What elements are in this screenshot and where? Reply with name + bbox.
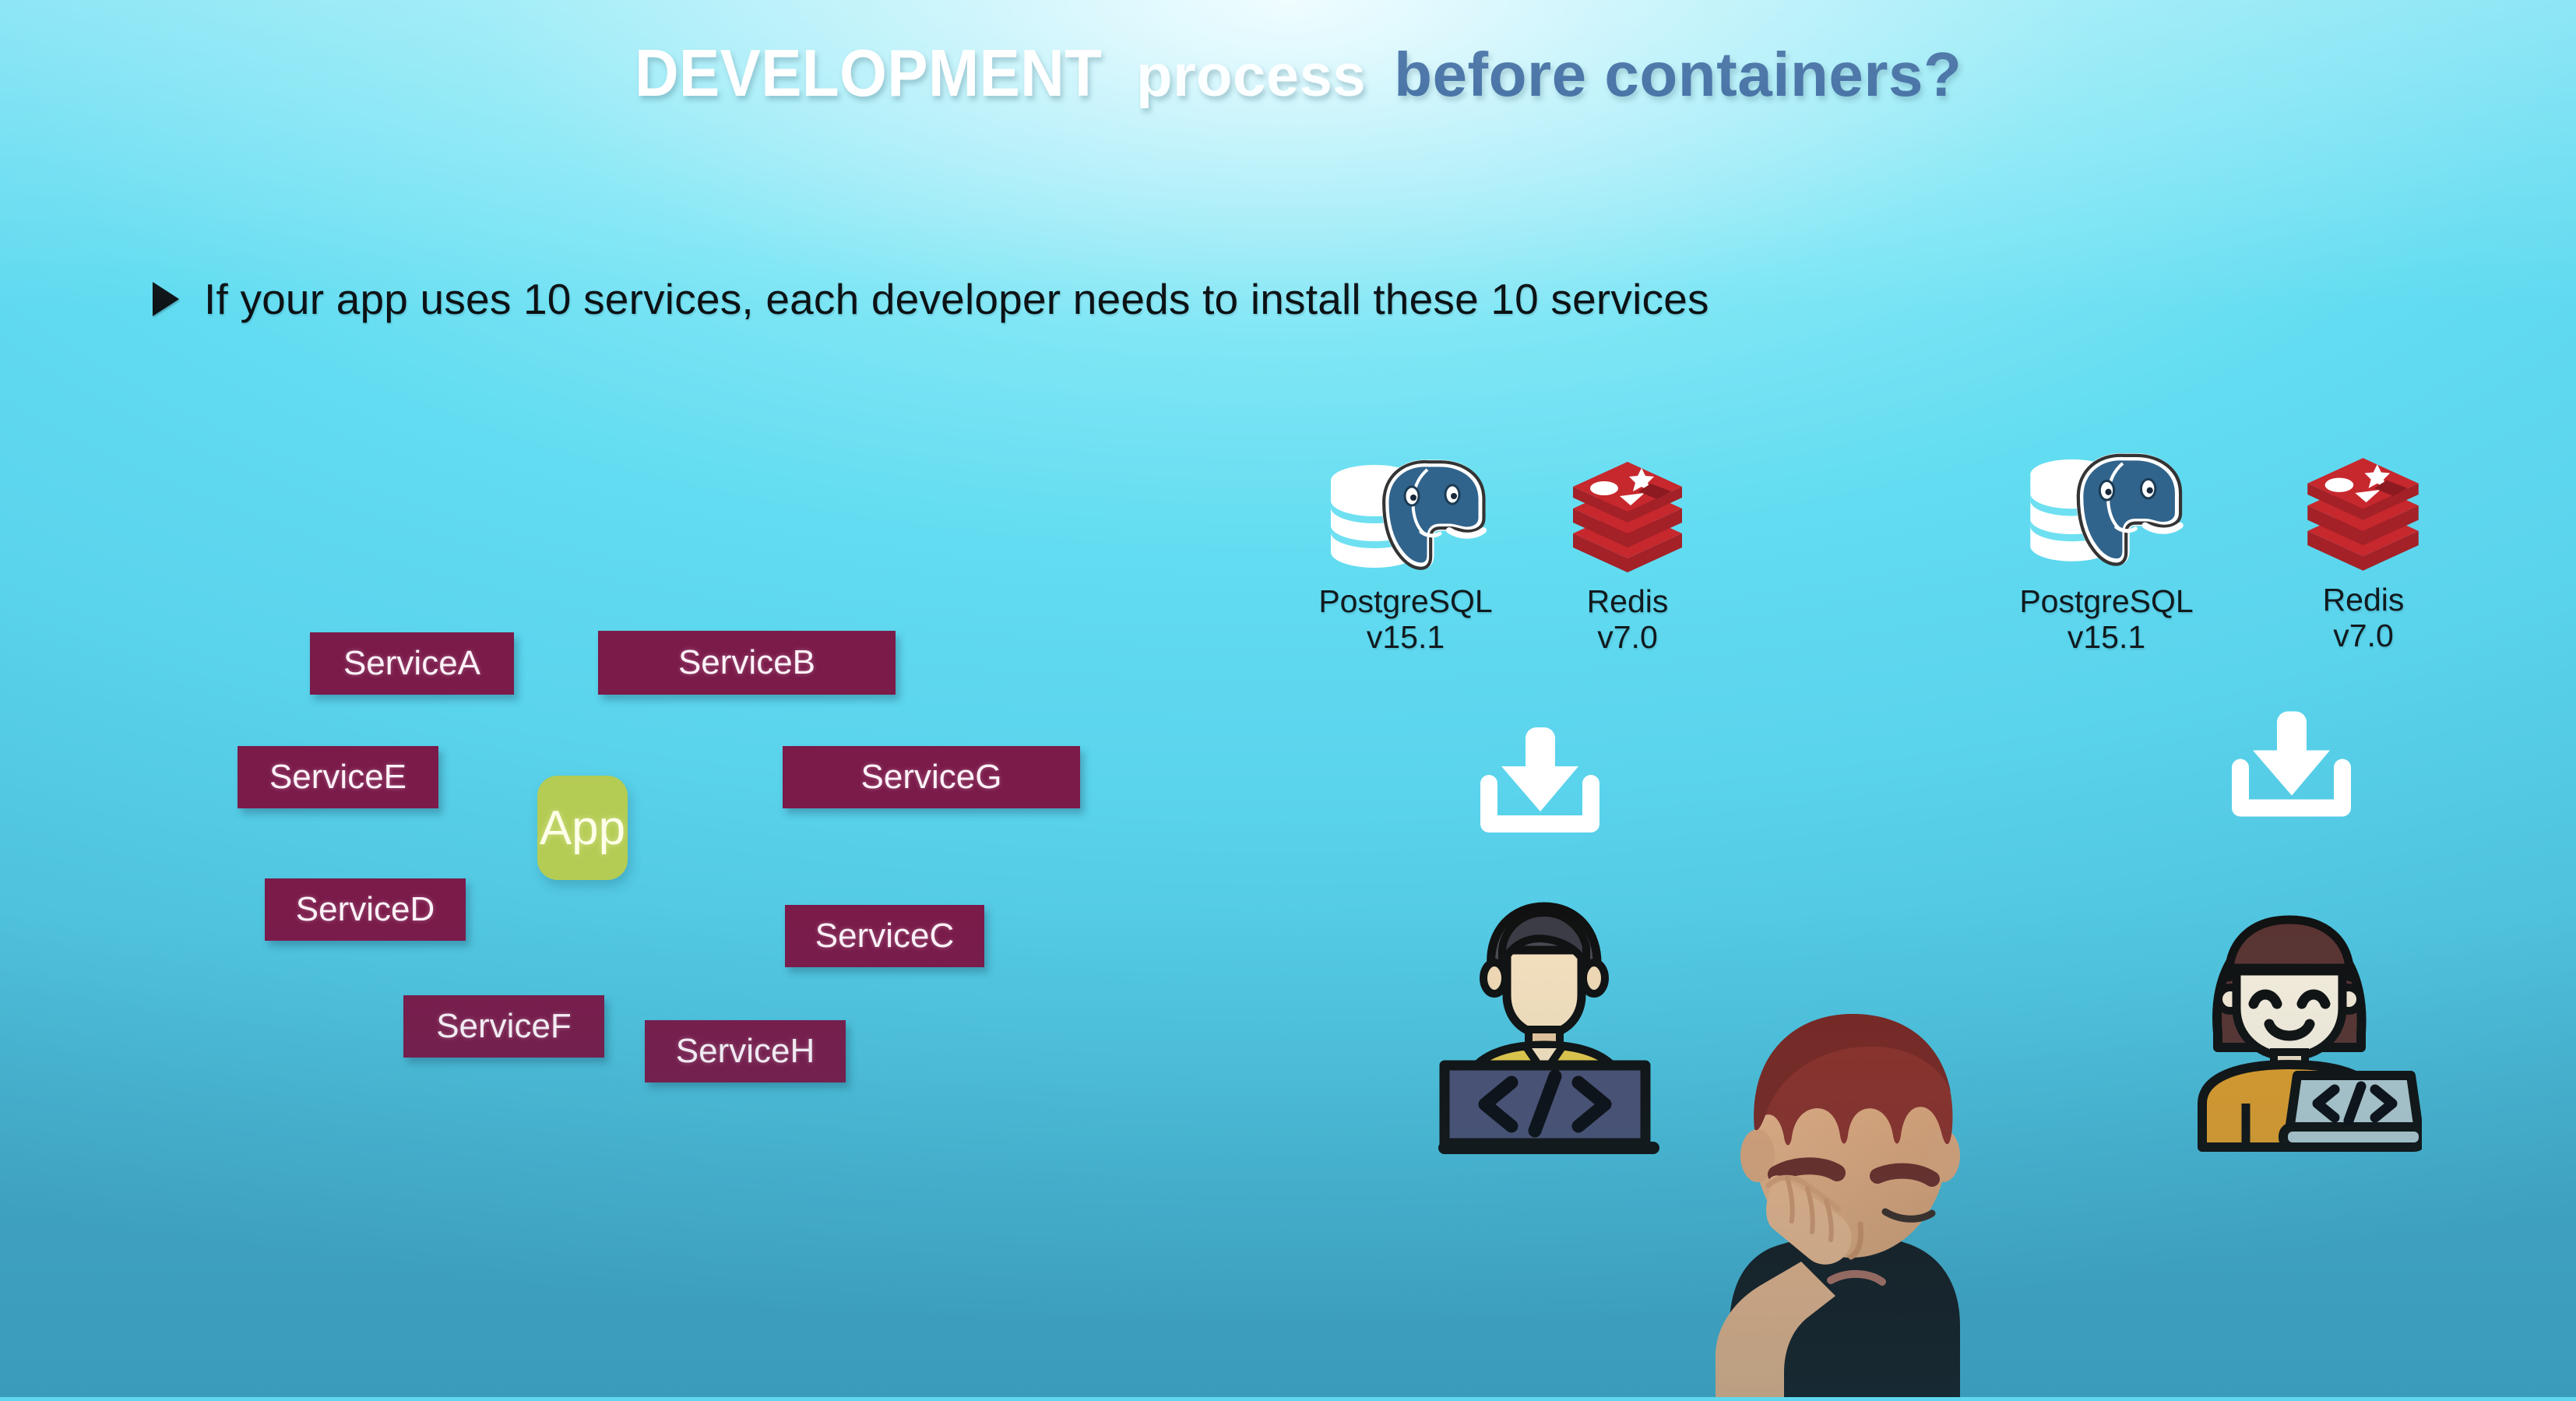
postgresql-icon: [1320, 456, 1491, 584]
tech-version: v7.0: [2274, 618, 2453, 654]
app-service-cluster: ServiceA ServiceB ServiceE ServiceG Serv…: [0, 0, 1168, 1397]
service-label: ServiceA: [343, 644, 480, 683]
tech-name: PostgreSQL: [1978, 584, 2235, 620]
tech-name: PostgreSQL: [1277, 584, 1534, 620]
service-box: ServiceC: [785, 905, 984, 967]
app-label: App: [540, 801, 625, 856]
tech-version: v7.0: [1538, 620, 1717, 656]
service-box: ServiceD: [265, 878, 466, 941]
service-label: ServiceD: [296, 890, 435, 929]
tech-stack-redis-right: Redis v7.0: [2274, 452, 2453, 654]
app-box: App: [537, 776, 628, 880]
service-box: ServiceH: [645, 1020, 846, 1082]
service-label: ServiceF: [436, 1007, 572, 1046]
tech-version: v15.1: [1277, 620, 1534, 656]
title-part-process: process: [1136, 42, 1366, 110]
tech-stack-redis-left: Redis v7.0: [1538, 456, 1717, 656]
tech-version: v15.1: [1978, 620, 2235, 656]
service-label: ServiceH: [676, 1032, 815, 1071]
redis-icon: [2298, 452, 2429, 583]
title-part-before-containers: before containers?: [1394, 39, 1962, 111]
postgresql-icon: [2019, 452, 2194, 584]
service-box: ServiceG: [783, 746, 1080, 808]
tech-name: Redis: [2274, 583, 2453, 618]
slide-background: DEVELOPMENTprocessbefore containers? If …: [0, 0, 2576, 1397]
developer-female-avatar: [2188, 899, 2422, 1160]
tech-stack-postgresql-left: PostgreSQL v15.1: [1277, 456, 1534, 656]
service-label: ServiceE: [269, 758, 406, 797]
download-icon: [2223, 707, 2360, 826]
service-label: ServiceC: [815, 917, 955, 956]
frustrated-developer-facepalm: [1655, 991, 1982, 1401]
tech-stack-postgresql-right: PostgreSQL v15.1: [1978, 452, 2235, 656]
download-icon: [1472, 724, 1608, 841]
redis-icon: [1564, 456, 1692, 584]
service-box: ServiceB: [598, 631, 896, 695]
developer-male-avatar: [1437, 896, 1663, 1164]
service-box: ServiceF: [403, 995, 604, 1058]
service-label: ServiceB: [678, 643, 815, 682]
service-box: ServiceA: [310, 632, 514, 695]
service-label: ServiceG: [861, 758, 1002, 797]
tech-name: Redis: [1538, 584, 1717, 620]
service-box: ServiceE: [238, 746, 438, 808]
